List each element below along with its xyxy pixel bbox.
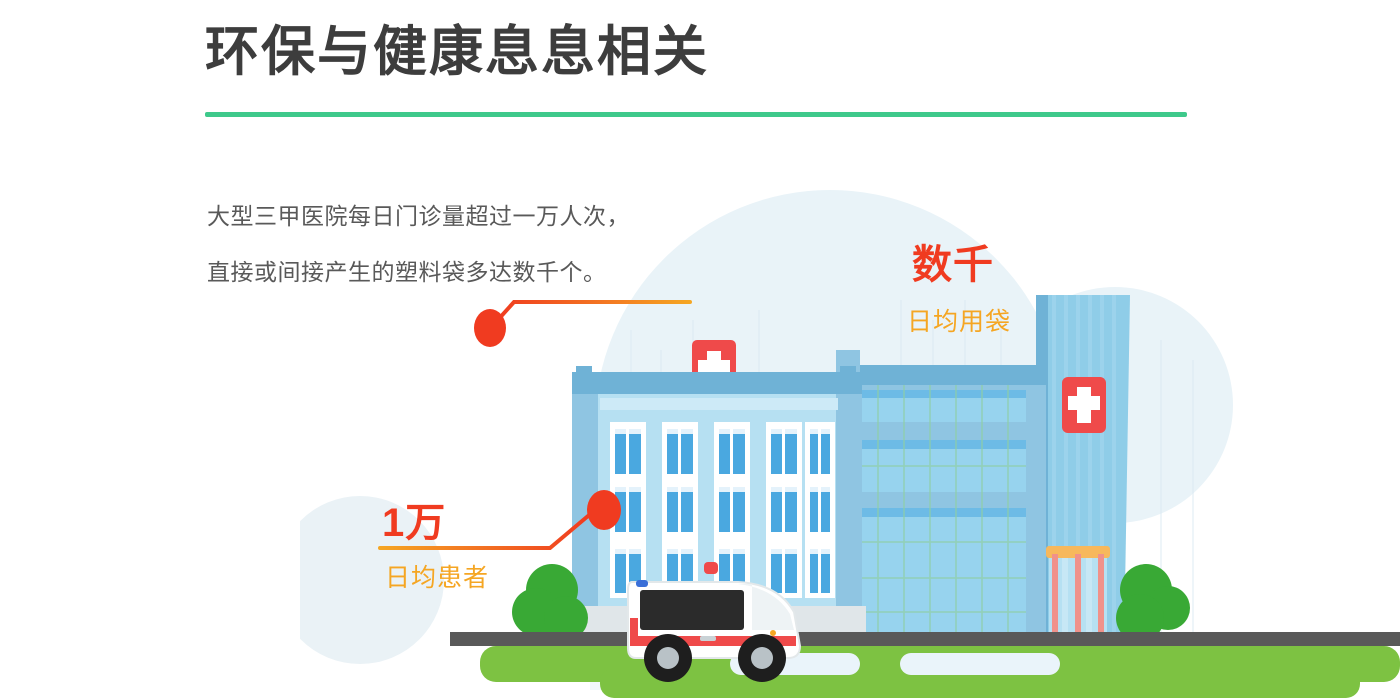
tower-cross-sign [1062,377,1106,433]
mid-rise-glass-building [836,350,1046,650]
bush-right [1116,564,1190,642]
callout-bags-label: 日均用袋 [907,302,1011,338]
title-underline-rule [205,112,1187,117]
hospital-illustration [300,150,1400,700]
window-grid [610,422,835,598]
callout-bags-value: 数千 [912,232,994,290]
callout-patients-value: 1万 [382,490,446,548]
page-title: 环保与健康息息相关 [205,24,709,81]
tower-entrance [1046,546,1110,642]
callout-patients-label: 日均患者 [385,558,489,594]
slide-canvas: 环保与健康息息相关 大型三甲医院每日门诊量超过一万人次，直接或间接产生的塑料袋多… [0,0,1400,700]
right-tower [1036,295,1130,655]
